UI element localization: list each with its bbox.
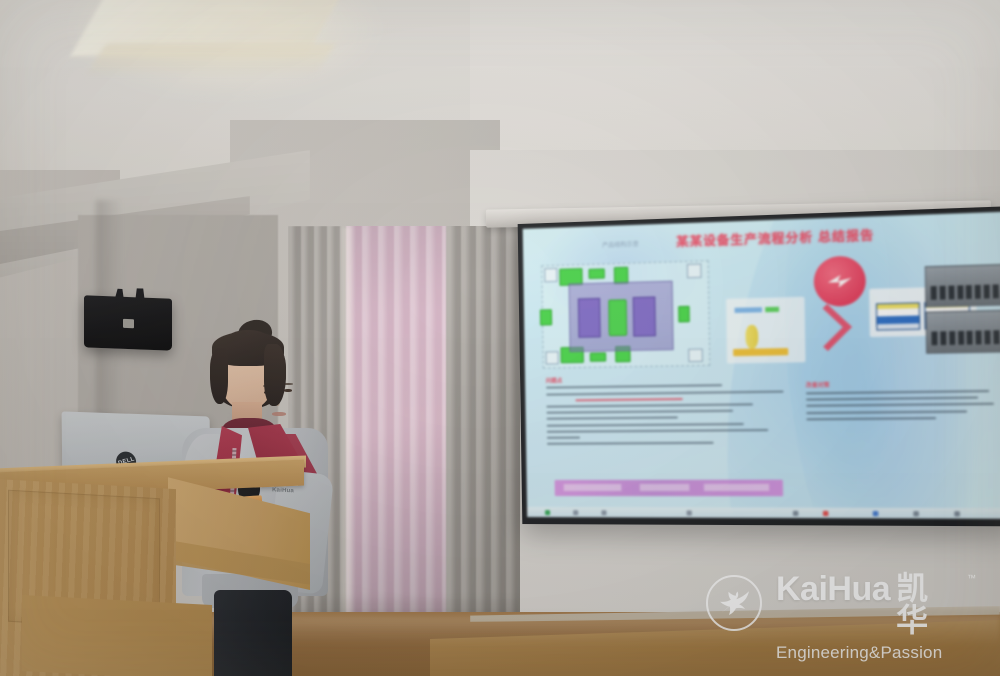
kaihua-watermark: KaiHua 凯华 ™ Engineering&Passion [706, 572, 976, 654]
hair-side-left [210, 348, 228, 404]
slide-cad-diagram [542, 261, 710, 369]
watermark-trademark: ™ [967, 574, 976, 583]
taskbar-icon [873, 510, 879, 515]
cad-green-block [588, 269, 605, 279]
taskbar-icon [601, 510, 606, 515]
podium-base [22, 595, 212, 676]
hummingbird-glyph [716, 588, 752, 618]
eye-right [284, 389, 292, 392]
slide-text-line [806, 403, 993, 407]
slide-taskbar [527, 507, 1000, 519]
watermark-text: KaiHua 凯华 ™ Engineering&Passion [776, 572, 976, 663]
hair-side-right [264, 344, 286, 406]
taskbar-icon [573, 510, 578, 515]
slide-section-label-right: 改善对策 [806, 380, 830, 389]
diagram-base [733, 348, 788, 356]
slide-text-line [546, 410, 733, 414]
cad-inner-part [633, 297, 656, 337]
slide-text-line [546, 417, 678, 420]
ceiling-light-edge [86, 44, 335, 74]
highlight-segment [704, 483, 769, 490]
curtain-sheer-lit [346, 226, 458, 646]
cad-corner-mark [544, 268, 557, 282]
slide-text-block-left [546, 384, 795, 450]
taskbar-icon [823, 510, 828, 515]
taskbar-icon [954, 511, 960, 516]
watermark-brand-cn: 凯华 [896, 572, 961, 636]
diagram-coil [745, 325, 758, 349]
cad-corner-mark [546, 351, 560, 364]
curtain-edge-highlight [340, 226, 354, 646]
diagram-bar-green [765, 306, 779, 312]
diagram-bar-blue [734, 307, 762, 314]
cad-green-block [540, 309, 552, 325]
watermark-title-row: KaiHua 凯华 ™ [776, 572, 976, 636]
slide-text-line [547, 436, 581, 438]
slide-text-line [806, 397, 978, 401]
trousers [214, 590, 292, 676]
slide-text-line [546, 403, 753, 407]
slide-text-line [546, 385, 723, 389]
curtain-panel-right [446, 226, 520, 646]
slide-text-line [547, 429, 769, 433]
highlight-segment [563, 483, 621, 490]
slide-text-line [547, 442, 714, 445]
thumbnail-content [931, 284, 999, 299]
projected-slide: 产品结构示意 某某设备生产流程分析 总结报告 [523, 211, 1000, 518]
cad-inner-part [578, 298, 601, 338]
taskbar-icon [793, 510, 798, 515]
product-unit [876, 302, 921, 330]
taskbar-icon [686, 510, 691, 515]
mouth [272, 412, 286, 416]
thumbnail-content [931, 330, 999, 345]
slide-highlight-banner [554, 479, 783, 496]
badge-bird-glyph [826, 271, 854, 293]
slide-photo-thumbnail [925, 264, 1000, 308]
slide-text-line-highlight [575, 398, 683, 401]
speaker-brand-badge [123, 319, 134, 328]
taskbar-icon [545, 510, 550, 515]
taskbar-icon [913, 511, 919, 516]
photo-scene: 产品结构示意 某某设备生产流程分析 总结报告 [0, 0, 1000, 676]
cad-corner-mark [687, 264, 701, 278]
watermark-tagline: Engineering&Passion [776, 643, 976, 663]
slide-text-line [806, 417, 936, 420]
watermark-brand-en: KaiHua [776, 572, 890, 606]
slide-text-block-right [806, 390, 994, 425]
cad-center-green-part [608, 299, 627, 336]
cad-green-block [678, 306, 690, 323]
highlight-segment [639, 483, 689, 490]
jbl-wall-speaker [84, 295, 172, 350]
slide-section-label-left: 问题点 [546, 377, 563, 385]
jacket-chest-logo: KaiHua [272, 487, 302, 497]
hummingbird-icon [706, 575, 762, 631]
slide-process-diagram [726, 297, 805, 364]
slide-text-line [546, 423, 743, 427]
projection-screen-frame: 产品结构示意 某某设备生产流程分析 总结报告 [518, 206, 1000, 526]
cad-corner-mark [689, 349, 703, 363]
slide-photo-thumbnail [925, 310, 1000, 353]
cad-green-block [589, 353, 606, 362]
slide-text-line [546, 390, 783, 395]
slide-text-line [806, 410, 966, 414]
cad-core-assembly [569, 280, 674, 352]
